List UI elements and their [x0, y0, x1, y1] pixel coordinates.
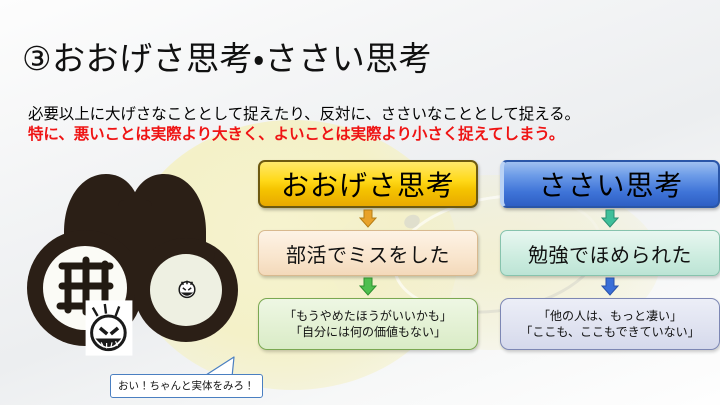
header-box-minimization[interactable]: ささい思考	[500, 160, 720, 208]
description-line-2: 特に、悪いことは実際より大きく、よいことは実際より小さく捉えてしまう。	[28, 125, 580, 145]
speech-bubble: おい！ちゃんと実体をみろ！	[110, 374, 263, 398]
header-box-exaggeration[interactable]: おおげさ思考	[258, 160, 478, 208]
quote-line-exaggeration-2: 「自分には何の価値もない」	[290, 324, 446, 340]
event-label-exaggeration: 部活でミスをした	[286, 239, 450, 268]
binoculars-illustration	[10, 160, 260, 370]
quote-box-exaggeration[interactable]: 「もうやめたほうがいいかも」 「自分には何の価値もない」	[258, 298, 478, 350]
column-minimization: ささい思考 勉強でほめられた 「他の人は、もっと凄い」 「ここも、ここもできてい…	[500, 160, 720, 350]
slide-canvas: ③おおげさ思考・ささい思考 必要以上に大げさなこととして捉えたり、反対に、ささい…	[0, 0, 720, 405]
arrow-minimization-2	[500, 276, 720, 298]
column-exaggeration: おおげさ思考 部活でミスをした 「もうやめたほうがいいかも」 「自分には何の価値…	[258, 160, 478, 350]
header-label-exaggeration: おおげさ思考	[281, 164, 455, 204]
quote-line-minimization-2: 「ここも、ここもできていない」	[520, 324, 699, 340]
arrow-minimization-1	[500, 208, 720, 230]
quote-line-minimization-1: 「他の人は、もっと凄い」	[538, 308, 682, 324]
event-box-exaggeration[interactable]: 部活でミスをした	[258, 230, 478, 276]
event-box-minimization[interactable]: 勉強でほめられた	[500, 230, 720, 276]
quote-line-exaggeration-1: 「もうやめたほうがいいかも」	[284, 308, 452, 324]
quote-box-minimization[interactable]: 「他の人は、もっと凄い」 「ここも、ここもできていない」	[500, 298, 720, 350]
description-block: 必要以上に大げさなこととして捉えたり、反対に、ささいなこととして捉える。 特に、…	[28, 105, 580, 145]
header-label-minimization: ささい思考	[538, 164, 683, 204]
arrow-exaggeration-2	[258, 276, 478, 298]
description-line-1: 必要以上に大げさなこととして捉えたり、反対に、ささいなこととして捉える。	[28, 105, 580, 125]
event-label-minimization: 勉強でほめられた	[528, 239, 692, 268]
arrow-exaggeration-1	[258, 208, 478, 230]
page-title: ③おおげさ思考・ささい思考	[22, 32, 432, 80]
